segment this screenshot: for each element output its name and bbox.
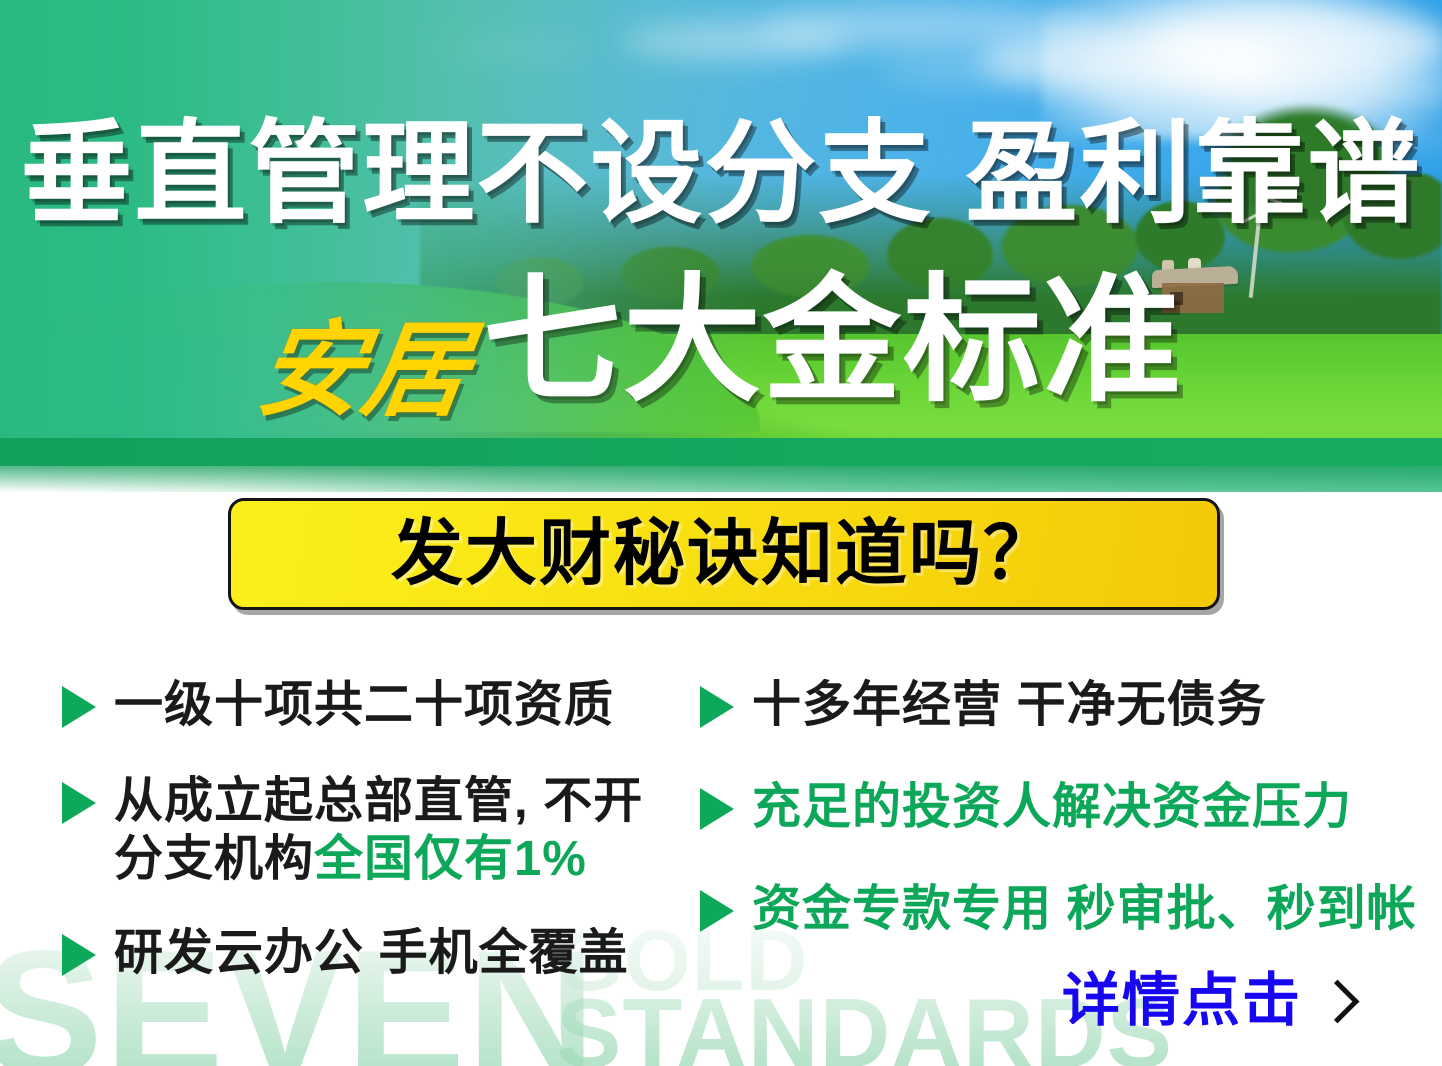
feature-text: 十多年经营 干净无债务 xyxy=(752,676,1267,734)
feature-item-left-2: 从成立起总部直管, 不开 分支机构全国仅有1% xyxy=(62,772,643,888)
feature-item-left-3: 研发云办公 手机全覆盖 xyxy=(62,924,629,982)
triangle-right-icon xyxy=(62,686,96,728)
triangle-right-icon xyxy=(62,782,96,824)
chevron-right-icon xyxy=(1316,979,1360,1023)
feature-text-highlight: 全国仅有1% xyxy=(314,832,587,886)
feature-text: 从成立起总部直管, 不开 分支机构全国仅有1% xyxy=(114,772,643,888)
promo-banner: 垂直管理不设分支 盈利靠谱 安居七大金标准 发大财秘诀知道吗？ SEVEN GO… xyxy=(0,0,1442,1066)
hero-brand-word: 安居 xyxy=(252,319,477,423)
cloud-icon xyxy=(1150,8,1442,80)
feature-item-right-2: 充足的投资人解决资金压力 xyxy=(700,778,1352,836)
triangle-right-icon xyxy=(700,686,734,728)
triangle-right-icon xyxy=(700,890,734,932)
feature-text-line2-prefix: 分支机构 xyxy=(114,832,314,886)
feature-text-line1: 从成立起总部直管, 不开 xyxy=(114,774,643,828)
triangle-right-icon xyxy=(700,788,734,830)
triangle-right-icon xyxy=(62,934,96,976)
headline-question-text: 发大财秘诀知道吗？ xyxy=(391,518,1057,590)
hero-section: 垂直管理不设分支 盈利靠谱 安居七大金标准 xyxy=(0,0,1442,466)
feature-text: 充足的投资人解决资金压力 xyxy=(752,778,1352,836)
hero-bottom-green-strip xyxy=(0,438,1442,466)
feature-lists: 一级十项共二十项资质 从成立起总部直管, 不开 分支机构全国仅有1% 研发云办公… xyxy=(0,648,1442,978)
feature-text: 研发云办公 手机全覆盖 xyxy=(114,924,629,982)
feature-item-right-3: 资金专款专用 秒审批、秒到帐 xyxy=(700,880,1417,938)
headline-question-banner[interactable]: 发大财秘诀知道吗？ xyxy=(228,498,1220,610)
feature-text: 一级十项共二十项资质 xyxy=(114,676,614,734)
cloud-icon xyxy=(880,60,1080,84)
hero-headline-secondary-row: 安居七大金标准 xyxy=(0,272,1442,423)
feature-text-line2: 分支机构全国仅有1% xyxy=(114,830,643,888)
feature-item-right-1: 十多年经营 干净无债务 xyxy=(700,676,1267,734)
hero-headline-primary: 垂直管理不设分支 盈利靠谱 xyxy=(0,118,1442,230)
hero-headline-secondary: 七大金标准 xyxy=(483,272,1183,410)
feature-item-left-1: 一级十项共二十项资质 xyxy=(62,676,614,734)
detail-cta-button[interactable]: 详情点击 xyxy=(1062,972,1353,1030)
hero-bottom-fade xyxy=(0,466,1442,492)
detail-cta-label: 详情点击 xyxy=(1062,972,1302,1030)
feature-text: 资金专款专用 秒审批、秒到帐 xyxy=(752,880,1417,938)
